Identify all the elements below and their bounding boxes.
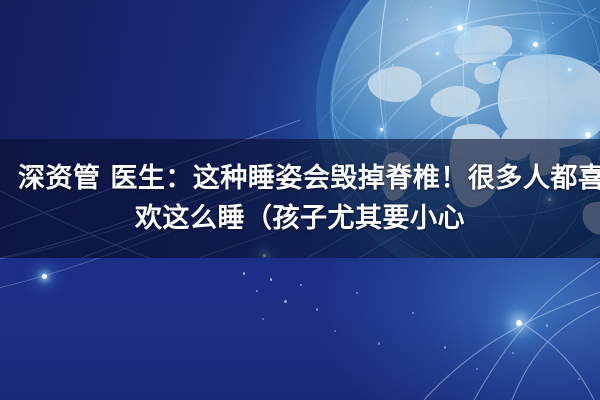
lower-panel [0,258,600,400]
headline-line-1: 深资管 医生：这种睡姿会毁掉脊椎！很多人都喜 [14,159,600,199]
banner-image: 深资管 医生：这种睡姿会毁掉脊椎！很多人都喜 欢这么睡（孩子尤其要小心 [0,0,600,400]
headline-block: 深资管 医生：这种睡姿会毁掉脊椎！很多人都喜 欢这么睡（孩子尤其要小心 [0,139,600,258]
headline-line-2: 欢这么睡（孩子尤其要小心 [135,199,465,239]
